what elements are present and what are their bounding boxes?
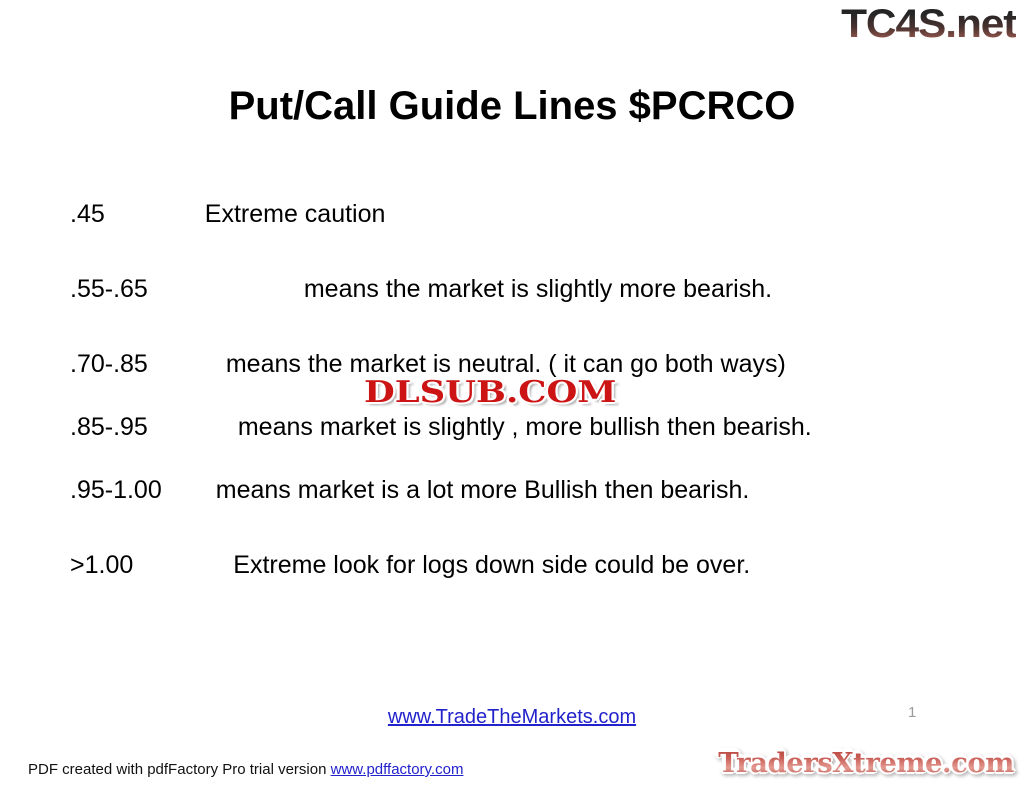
guide-line-description: means market is a lot more Bullish then … [216, 476, 750, 504]
tc4s-logo: TC4S.net [841, 2, 1016, 46]
trade-the-markets-link[interactable]: www.TradeTheMarkets.com [388, 706, 636, 728]
pdf-footer: PDF created with pdfFactory Pro trial ve… [28, 760, 463, 780]
guide-line-description: means the market is neutral. ( it can go… [226, 350, 786, 378]
guide-line-description: means the market is slightly more bearis… [304, 275, 772, 303]
guide-line-range: .85-.95 [70, 413, 148, 441]
guide-line-description: Extreme look for logs down side could be… [233, 551, 750, 579]
tradersxtreme-logo: TradersXtreme.com [718, 748, 1014, 780]
guide-line-description: means market is slightly , more bullish … [238, 413, 812, 441]
guide-line-description: Extreme caution [205, 200, 386, 228]
guide-line-range: .70-.85 [70, 350, 148, 378]
pdffactory-link[interactable]: www.pdffactory.com [331, 761, 464, 778]
pdf-footer-text: PDF created with pdfFactory Pro trial ve… [28, 761, 331, 778]
guide-line-range: .55-.65 [70, 275, 148, 303]
guide-line-range: >1.00 [70, 551, 133, 579]
guide-line-row: .55-.65means the market is slightly more… [70, 271, 970, 308]
guide-line-range: .95-1.00 [70, 476, 162, 504]
footer-link-wrap: www.TradeTheMarkets.com [0, 704, 1024, 730]
page-number: 1 [908, 704, 916, 722]
guide-line-row: .95-1.00means market is a lot more Bulli… [70, 472, 970, 509]
guide-line-range: .45 [70, 200, 105, 228]
guide-line-row: .85-.95means market is slightly , more b… [70, 409, 970, 446]
page-title: Put/Call Guide Lines $PCRCO [0, 82, 1024, 130]
guide-line-row: >1.00Extreme look for logs down side cou… [70, 547, 970, 584]
guide-line-row: .45Extreme caution [70, 196, 970, 233]
slide-canvas: TC4S.net Put/Call Guide Lines $PCRCO .45… [0, 0, 1024, 791]
dlsub-watermark: DLSUB.COM [364, 376, 616, 410]
